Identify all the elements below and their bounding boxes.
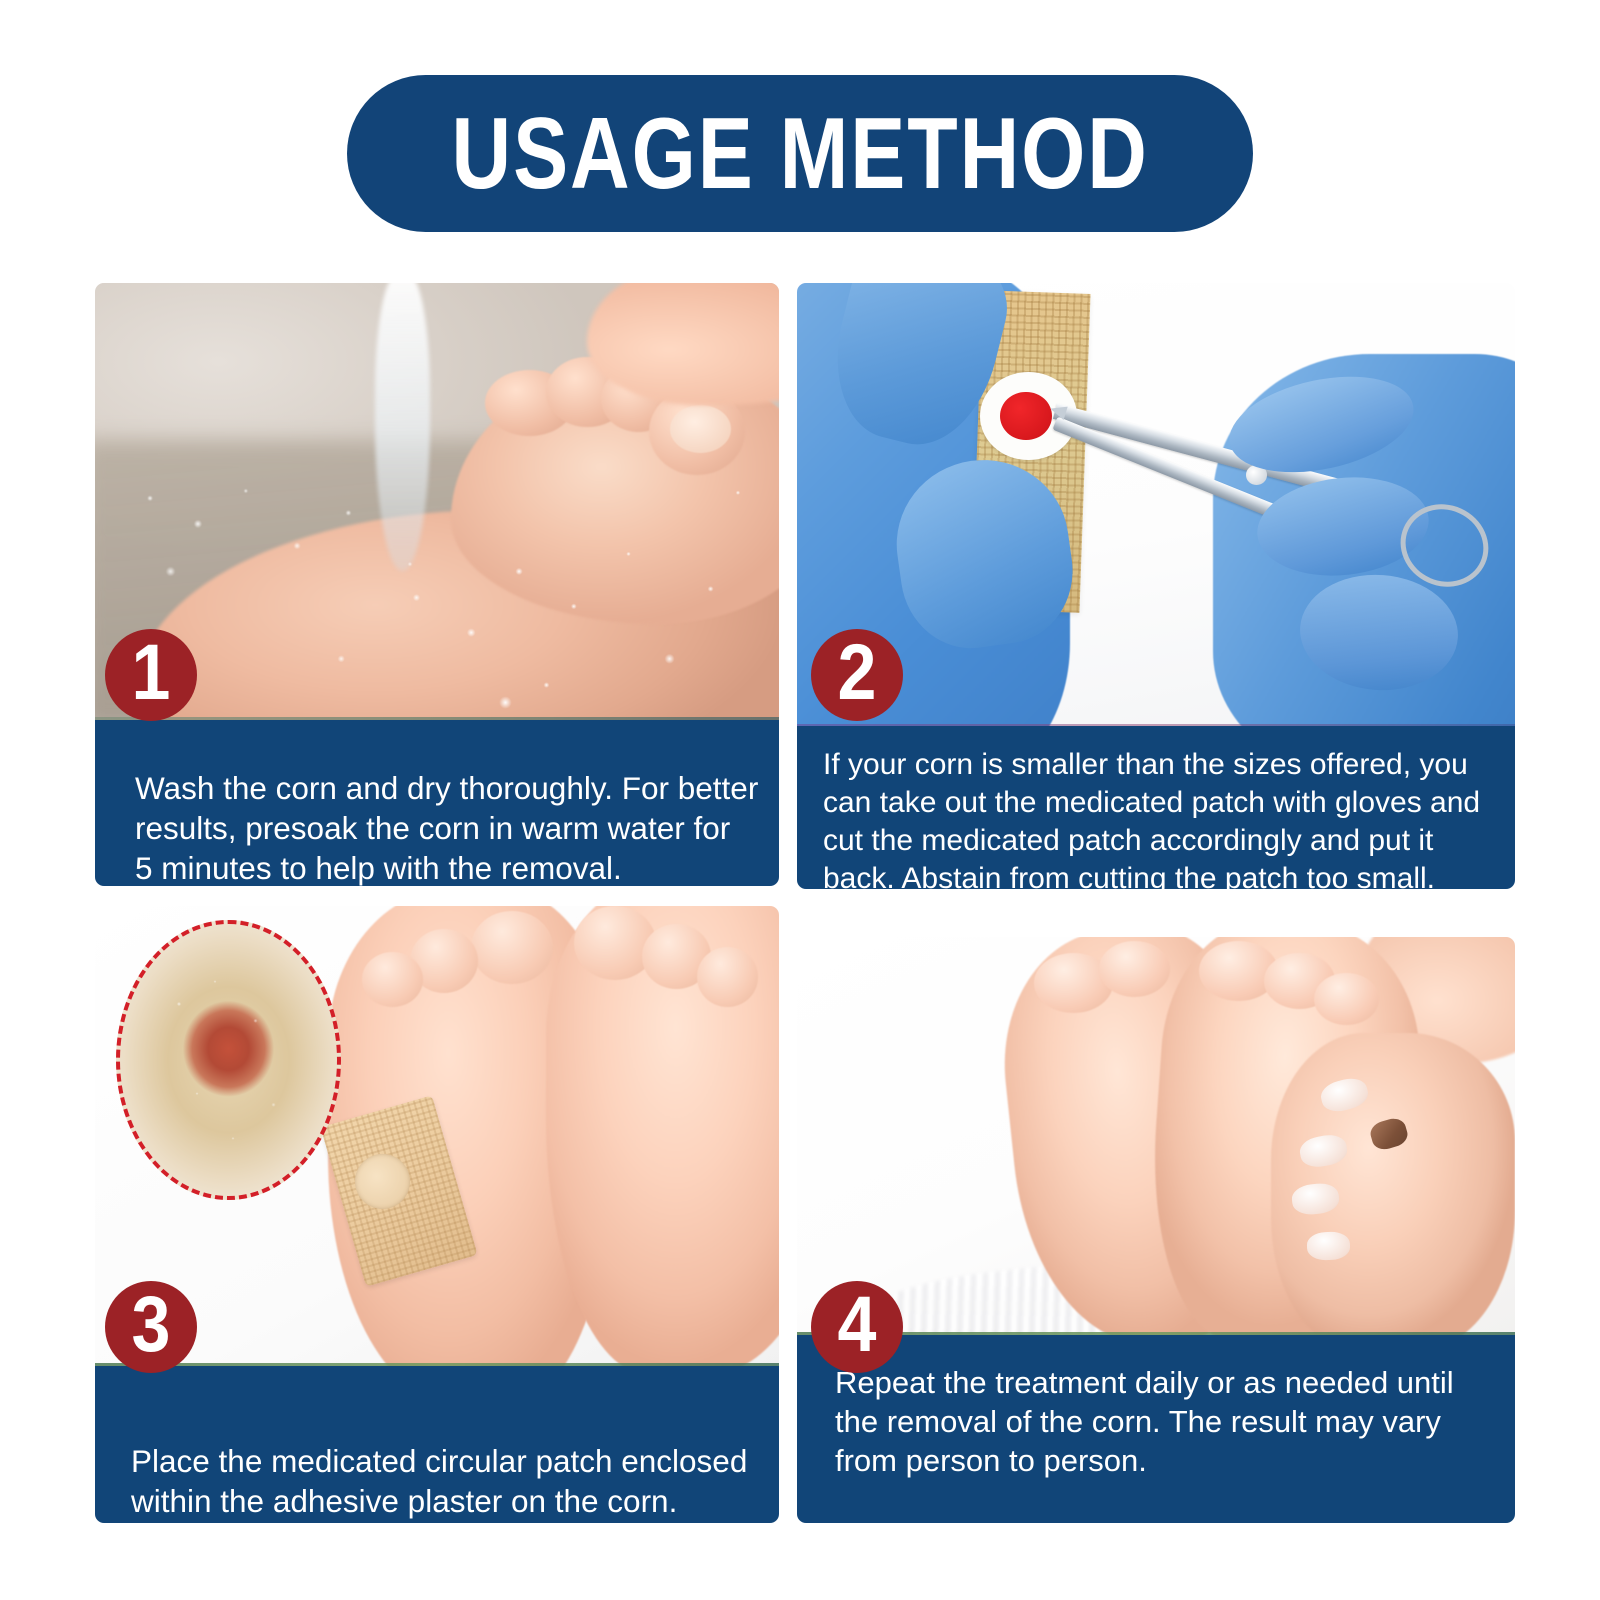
- step-3-caption: Place the medicated circular patch enclo…: [95, 1366, 779, 1523]
- caption-line: cut the medicated patch accordingly and …: [823, 822, 1493, 860]
- step-1-caption: Wash the corn and dry thoroughly. For be…: [95, 720, 779, 886]
- step-card-2: If your corn is smaller than the sizes o…: [797, 283, 1515, 889]
- step-number-3: 3: [132, 1285, 171, 1363]
- step-card-4: Repeat the treatment daily or as needed …: [797, 937, 1515, 1523]
- caption-line: Repeat the treatment daily or as needed …: [835, 1363, 1489, 1402]
- step-4-caption: Repeat the treatment daily or as needed …: [797, 1335, 1515, 1523]
- dashed-circle-icon: [116, 920, 342, 1201]
- step-number-badge-1: 1: [105, 629, 197, 721]
- toe-shape: [1314, 973, 1379, 1025]
- usage-method-title-banner: USAGE METHOD: [347, 75, 1253, 232]
- step-2-caption: If your corn is smaller than the sizes o…: [797, 726, 1515, 889]
- caption-line: from person to person.: [835, 1441, 1489, 1480]
- step-4-photo: [797, 937, 1515, 1335]
- caption-line: Place the medicated circular patch enclo…: [131, 1441, 743, 1481]
- red-medicated-dot: [1000, 392, 1052, 441]
- step-number-badge-2: 2: [811, 629, 903, 721]
- step-card-1: Wash the corn and dry thoroughly. For be…: [95, 283, 779, 886]
- caption-line: can take out the medicated patch with gl…: [823, 784, 1493, 822]
- step-number-badge-3: 3: [105, 1281, 197, 1373]
- caption-line: results, presoak the corn in warm water …: [135, 808, 739, 848]
- caption-line: If your corn is smaller than the sizes o…: [823, 746, 1493, 784]
- caption-line: 5 minutes to help with the removal.: [135, 848, 739, 886]
- step-card-3: Place the medicated circular patch enclo…: [95, 906, 779, 1523]
- caption-line: the removal of the corn. The result may …: [835, 1402, 1489, 1441]
- step-number-2: 2: [838, 633, 877, 711]
- step-3-photo: [95, 906, 779, 1366]
- caption-line: back. Abstain from cutting the patch too…: [823, 860, 1493, 889]
- step-2-photo: [797, 283, 1515, 726]
- caption-line: within the adhesive plaster on the corn.: [131, 1481, 743, 1521]
- page-title: USAGE METHOD: [451, 103, 1148, 204]
- toe-shape: [362, 952, 424, 1007]
- water-droplets-shape: [95, 283, 779, 720]
- step-number-4: 4: [838, 1285, 877, 1363]
- step-1-photo: [95, 283, 779, 720]
- toe-shape: [471, 911, 553, 985]
- step-number-badge-4: 4: [811, 1281, 903, 1373]
- step-number-1: 1: [132, 633, 171, 711]
- fingernail-shape: [1306, 1231, 1350, 1260]
- caption-line: Wash the corn and dry thoroughly. For be…: [135, 768, 739, 808]
- toe-shape: [1099, 941, 1171, 997]
